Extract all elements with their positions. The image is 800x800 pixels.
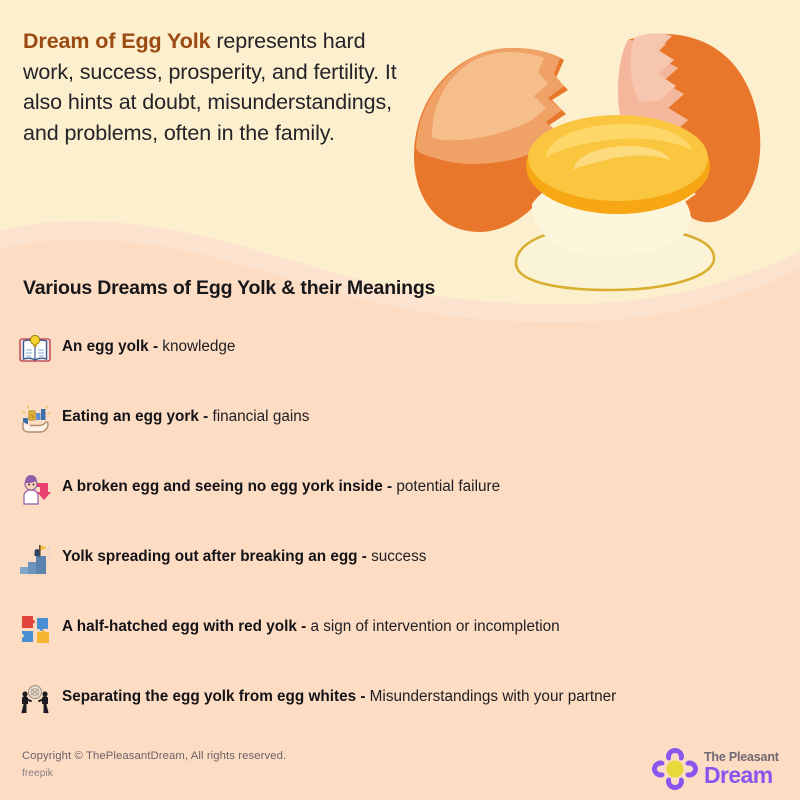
list-item: A broken egg and seeing no egg york insi… — [18, 471, 782, 541]
intro-lead-phrase: Dream of Egg Yolk — [23, 29, 210, 53]
flower-sun-icon — [650, 746, 700, 792]
section-heading: Various Dreams of Egg Yolk & their Meani… — [23, 277, 435, 300]
meaning-text: A half-hatched egg with red yolk - a sig… — [62, 617, 560, 637]
meaning-description: financial gains — [208, 408, 309, 425]
person-down-arrow-icon — [18, 472, 52, 506]
brand-wordmark: The Pleasant Dream — [704, 751, 779, 788]
two-people-separation-icon — [18, 682, 52, 716]
list-item: A half-hatched egg with red yolk - a sig… — [18, 611, 782, 681]
list-item: Yolk spreading out after breaking an egg… — [18, 541, 782, 611]
intro-paragraph: Dream of Egg Yolk represents hard work, … — [23, 26, 403, 148]
infographic-poster: Dream of Egg Yolk represents hard work, … — [0, 0, 800, 800]
list-item: $ Eating an egg york - financial gains — [18, 401, 782, 471]
meaning-description: potential failure — [392, 478, 500, 495]
meaning-text: Separating the egg yolk from egg whites … — [62, 687, 616, 707]
meaning-description: knowledge — [158, 338, 235, 355]
meaning-text: An egg yolk - knowledge — [62, 337, 235, 357]
person-stairs-flag-icon — [18, 542, 52, 576]
hand-money-icon: $ — [18, 402, 52, 436]
meaning-title: Separating the egg yolk from egg whites … — [62, 688, 365, 705]
meaning-text: A broken egg and seeing no egg york insi… — [62, 477, 500, 497]
meanings-list: An egg yolk - knowledge $ Eating an eg — [18, 331, 782, 751]
meaning-title: An egg yolk - — [62, 338, 158, 355]
footer-copyright: Copyright © ThePleasantDream, All rights… — [22, 750, 286, 762]
meaning-text: Eating an egg york - financial gains — [62, 407, 309, 427]
intro-block: Dream of Egg Yolk represents hard work, … — [23, 26, 403, 148]
list-item: Separating the egg yolk from egg whites … — [18, 681, 782, 751]
meaning-description: a sign of intervention or incompletion — [306, 618, 559, 635]
meaning-title: A half-hatched egg with red yolk - — [62, 618, 306, 635]
book-lightbulb-icon — [18, 332, 52, 366]
meaning-description: Misunderstandings with your partner — [365, 688, 616, 705]
meaning-text: Yolk spreading out after breaking an egg… — [62, 547, 426, 567]
meaning-title: Yolk spreading out after breaking an egg… — [62, 548, 367, 565]
list-item: An egg yolk - knowledge — [18, 331, 782, 401]
footer-credit: freepik — [22, 768, 53, 779]
cracked-egg-illustration — [396, 8, 796, 298]
brand-name-line2: Dream — [704, 764, 779, 787]
meaning-description: success — [367, 548, 427, 565]
meaning-title: A broken egg and seeing no egg york insi… — [62, 478, 392, 495]
puzzle-pieces-icon — [18, 612, 52, 646]
meaning-title: Eating an egg york - — [62, 408, 208, 425]
brand-logo[interactable]: The Pleasant Dream — [650, 744, 790, 794]
